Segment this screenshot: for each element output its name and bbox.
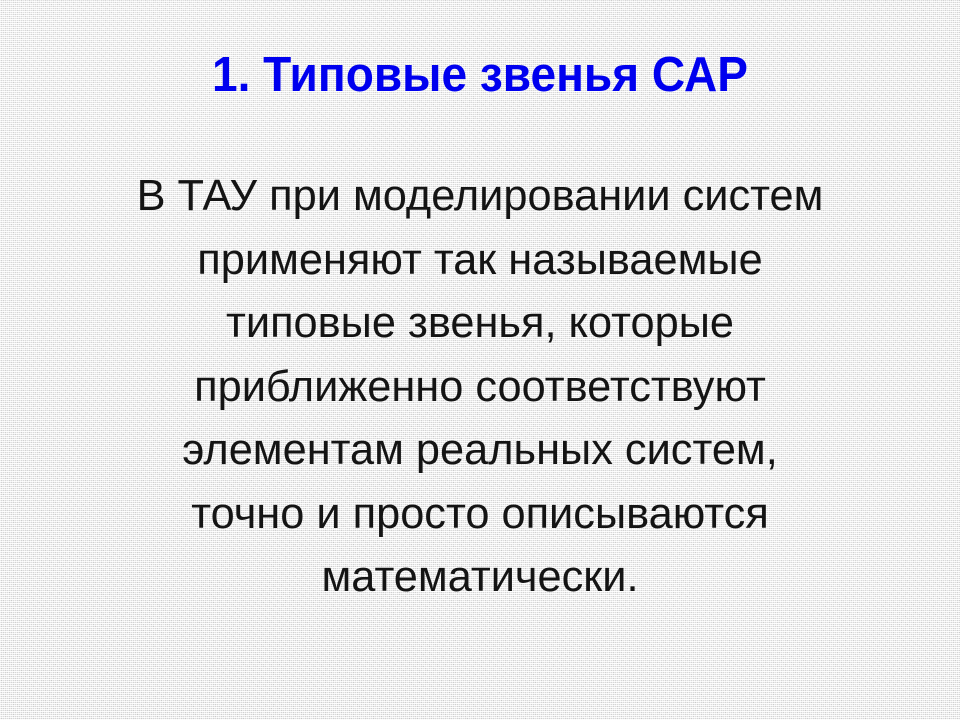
body-line: элементам реальных систем, <box>37 418 924 482</box>
slide-body-text: В ТАУ при моделировании систем применяют… <box>30 164 930 609</box>
body-line: применяют так называемые <box>37 228 924 292</box>
body-line: точно и просто описываются <box>37 482 924 546</box>
presentation-slide: 1. Типовые звенья САР В ТАУ при моделиро… <box>0 0 960 720</box>
body-line: типовые звенья, которые <box>37 291 924 355</box>
body-line: математически. <box>37 545 924 609</box>
slide-title: 1. Типовые звенья САР <box>29 46 931 104</box>
body-line: В ТАУ при моделировании систем <box>37 164 924 228</box>
slide-content: 1. Типовые звенья САР В ТАУ при моделиро… <box>0 0 960 720</box>
body-line: приближенно соответствуют <box>37 355 924 419</box>
